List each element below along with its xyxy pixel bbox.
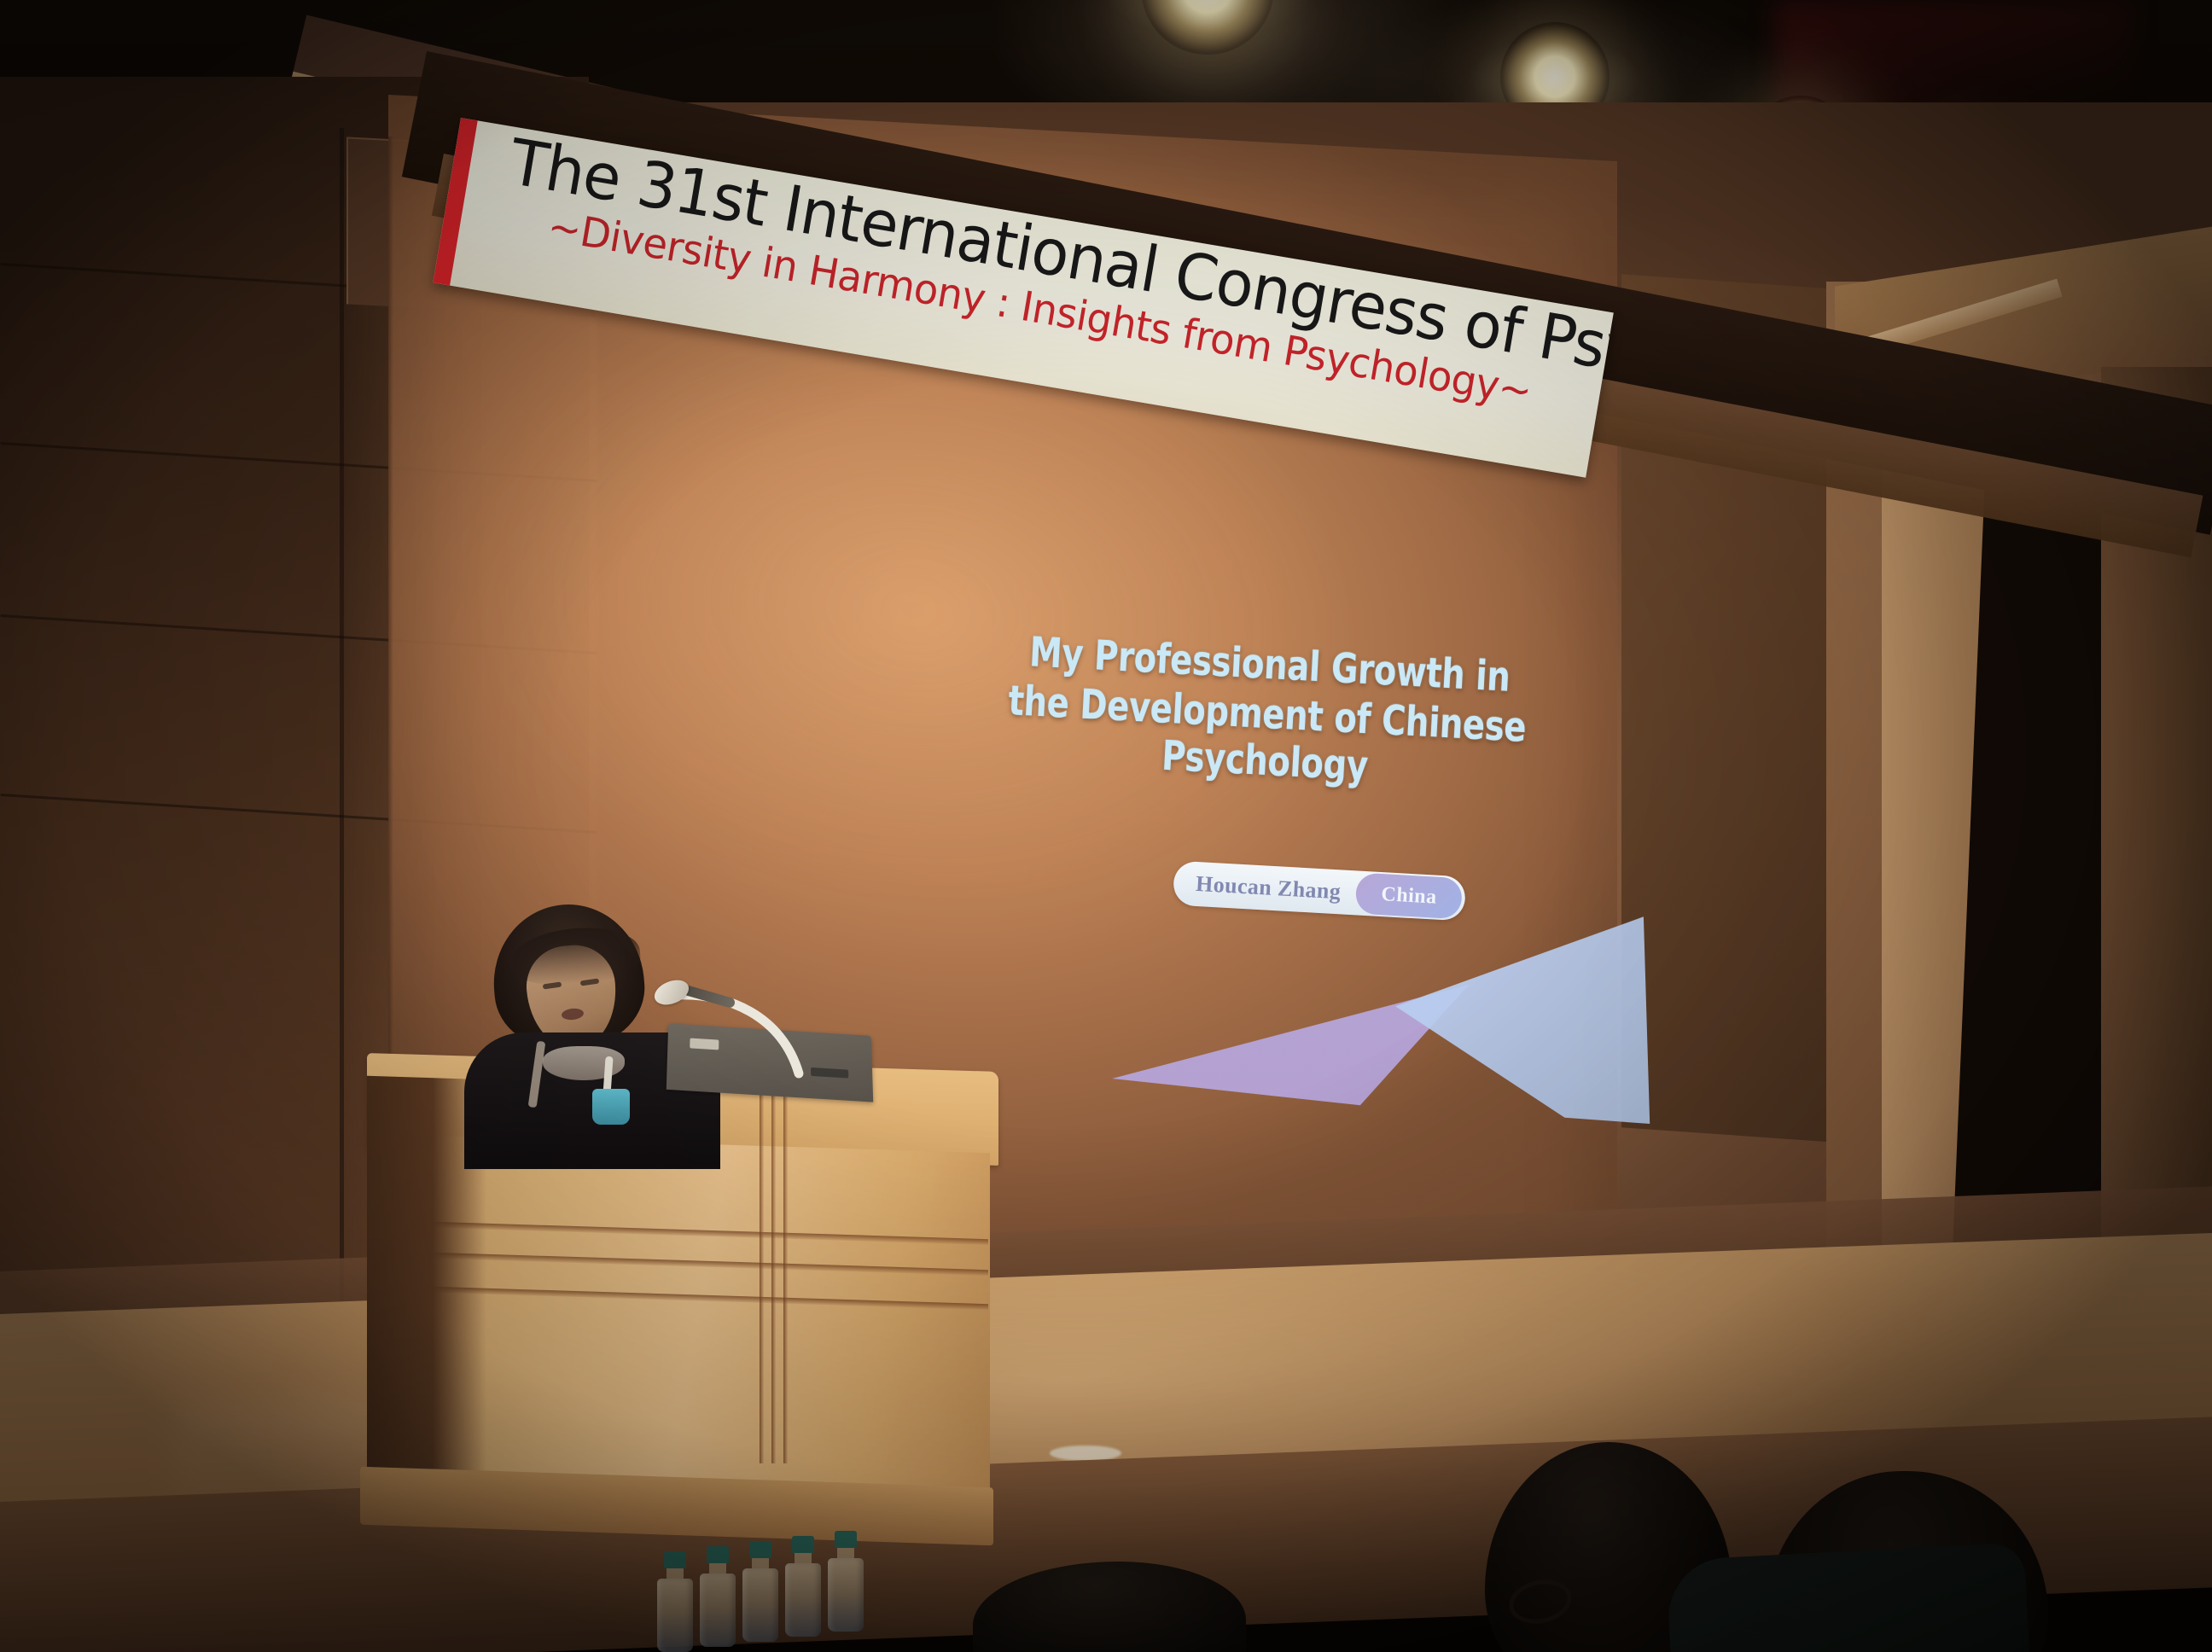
bottle-neck (709, 1563, 726, 1573)
water-bottle-icon (742, 1541, 778, 1642)
bottle-neck (752, 1558, 769, 1568)
bottle-body (657, 1579, 693, 1652)
water-bottle-icon (785, 1536, 821, 1637)
bottle-body (742, 1568, 778, 1642)
water-bottle-icon (700, 1546, 736, 1647)
bottle-neck (795, 1553, 812, 1563)
podium-vertical-groove (783, 1071, 788, 1463)
slide-speaker-name: Houcan Zhang (1195, 871, 1357, 905)
water-bottle-row (657, 1567, 905, 1652)
wall-vertical-edge (340, 128, 344, 1357)
bottle-cap (749, 1541, 771, 1558)
drink-cup (592, 1089, 630, 1125)
bottle-body (785, 1563, 821, 1637)
bottle-neck (837, 1548, 854, 1558)
audience-shoulder (1666, 1542, 2029, 1652)
water-bottle-icon (657, 1551, 693, 1652)
conference-photo-scene: My Professional Growth in the Developmen… (0, 0, 2212, 1652)
bottle-body (700, 1573, 736, 1647)
slide-speaker-country: China (1355, 872, 1463, 919)
podium-vertical-groove (760, 1071, 764, 1463)
bottle-neck (667, 1568, 684, 1579)
bottle-cap (664, 1551, 686, 1568)
podium-vertical-groove (771, 1071, 776, 1463)
bottle-cap (792, 1536, 814, 1553)
bottle-cap (707, 1546, 729, 1563)
bottle-cap (835, 1531, 857, 1548)
water-bottle-icon (828, 1531, 864, 1632)
bottle-body (828, 1558, 864, 1632)
